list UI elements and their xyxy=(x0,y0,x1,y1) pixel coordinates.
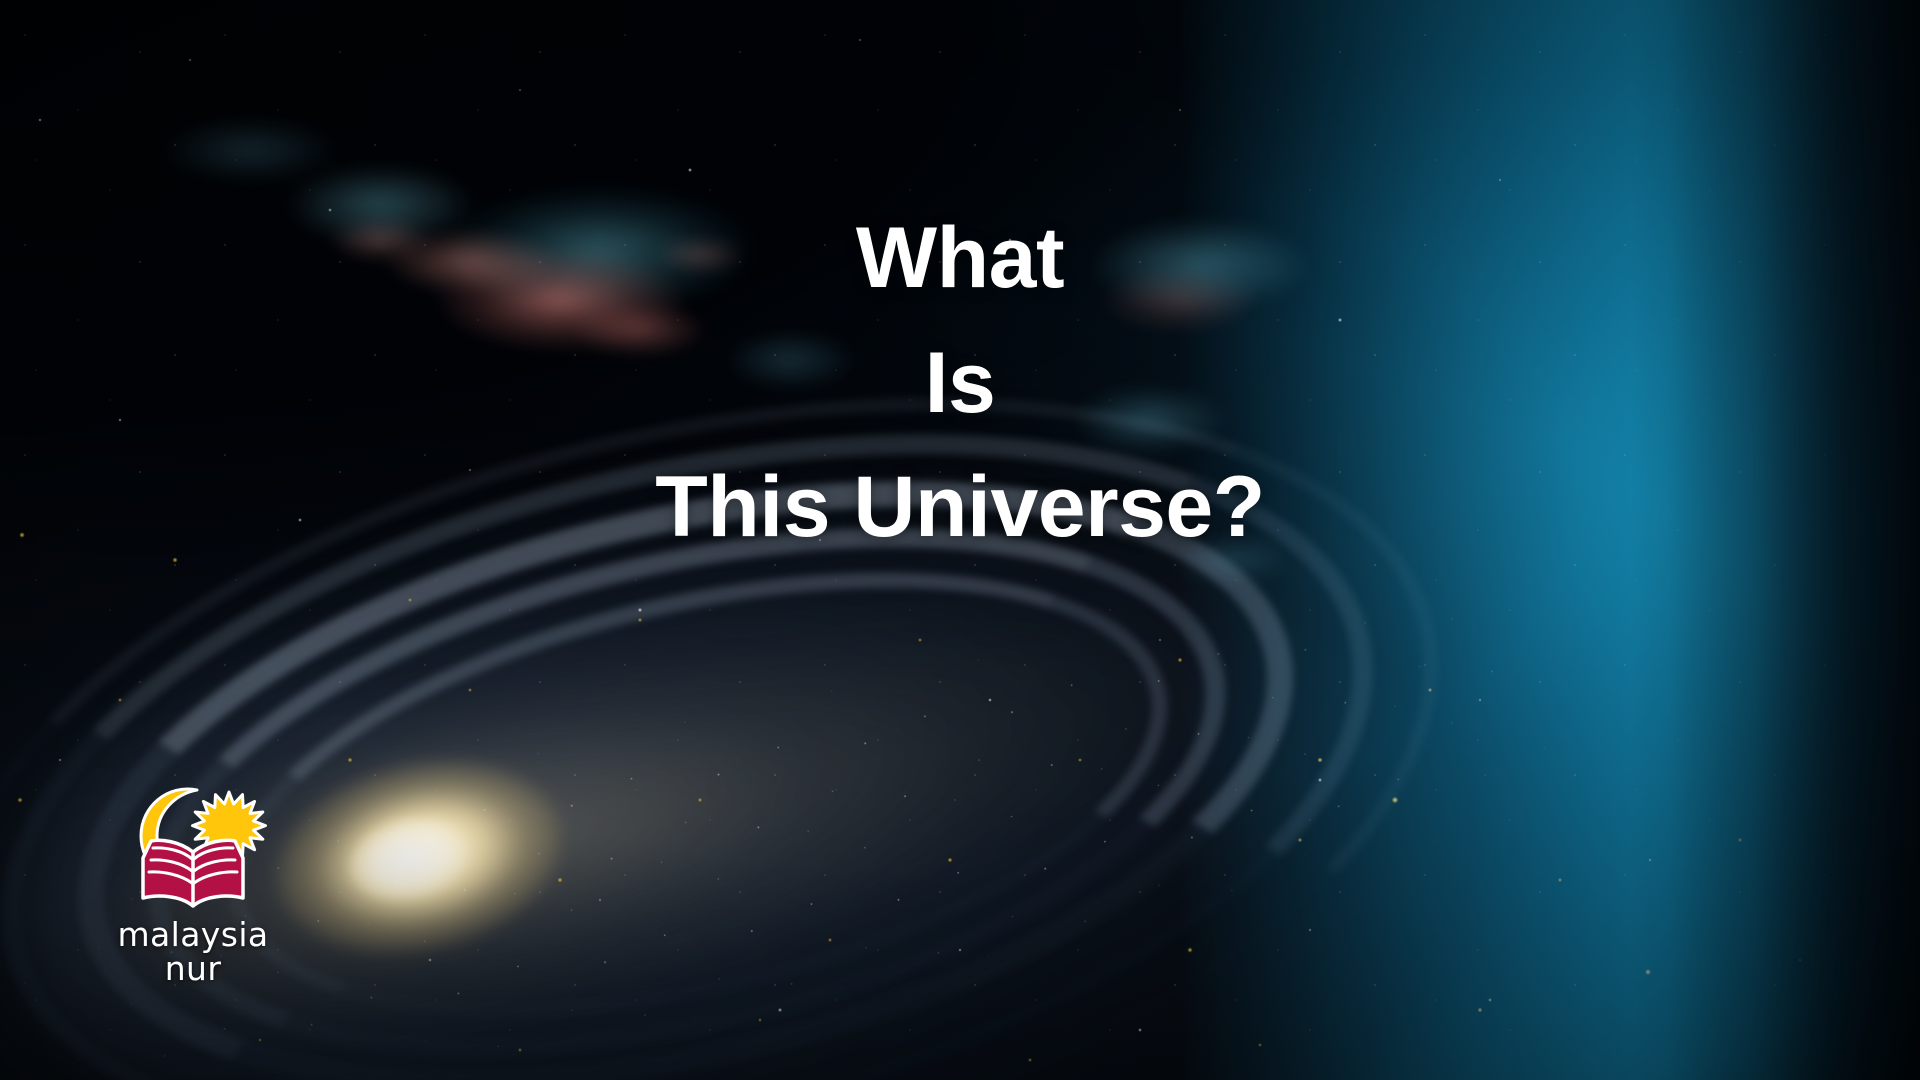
brand-logo: malaysia nur xyxy=(104,778,282,985)
logo-wordmark-line-2: nur xyxy=(104,952,282,986)
logo-wordmark: malaysia nur xyxy=(104,918,282,985)
logo-mark xyxy=(113,778,273,913)
vignette-overlay xyxy=(0,0,1920,1080)
slide-canvas: What Is This Universe? xyxy=(0,0,1920,1080)
open-book-icon xyxy=(143,840,243,906)
